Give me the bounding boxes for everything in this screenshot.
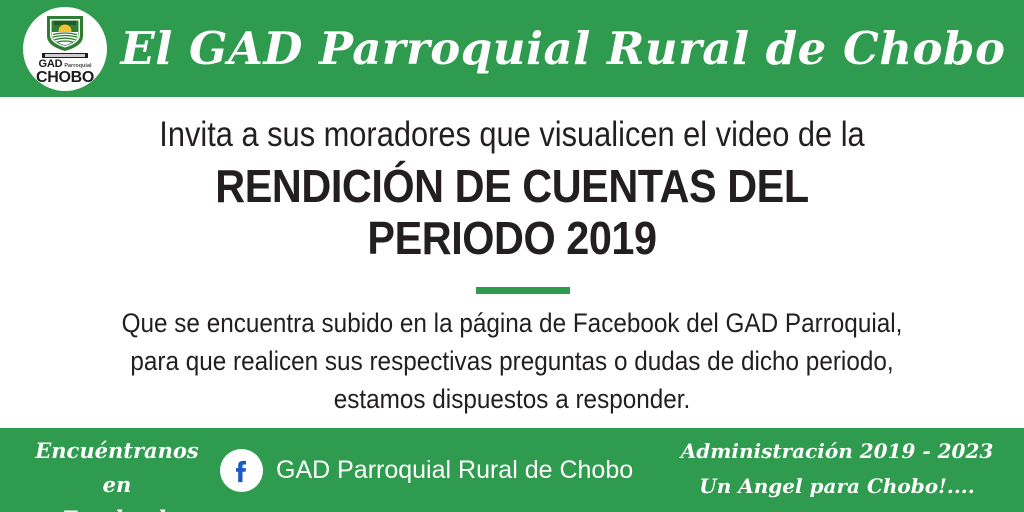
administration-slogan: Un Angel para Chobo!.... [672,469,1002,504]
find-us-line: Facebook [22,502,212,512]
main-content: Invita a sus moradores que visualicen el… [0,97,1024,428]
footer-band: Encuéntranos en Facebook GAD Parroquial … [0,428,1024,512]
body-line: para que realicen sus respectivas pregun… [51,342,973,380]
body-copy: Que se encuentra subido en la página de … [51,304,973,418]
headline-line: PERIODO 2019 [51,212,973,264]
body-line: estamos dispuestos a responder. [51,380,973,418]
organization-logo: GAD Parroquial CHOBO [23,7,107,91]
facebook-link[interactable]: GAD Parroquial Rural de Chobo [220,428,633,512]
find-us-line: Encuéntranos en [22,434,212,502]
intro-line: Invita a sus moradores que visualicen el… [61,115,962,155]
facebook-page-name[interactable]: GAD Parroquial Rural de Chobo [276,456,633,485]
logo-chobo-label: CHOBO [36,70,94,86]
facebook-f-icon[interactable] [220,449,263,492]
body-line: Que se encuentra subido en la página de … [51,304,973,342]
section-divider [476,287,570,294]
headline-line: RENDICIÓN DE CUENTAS DEL [51,160,973,212]
page-title: El GAD Parroquial Rural de Chobo [118,0,1008,97]
headline: RENDICIÓN DE CUENTAS DEL PERIODO 2019 [51,160,973,264]
poster-canvas: GAD Parroquial CHOBO El GAD Parroquial R… [0,0,1024,512]
crest-icon [45,14,85,52]
logo-banner-rule [42,53,88,58]
administration-tagline: Administración 2019 - 2023 Un Angel para… [672,434,1002,504]
find-us-callout: Encuéntranos en Facebook [22,434,212,512]
administration-period: Administración 2019 - 2023 [672,434,1002,469]
header-band: GAD Parroquial CHOBO El GAD Parroquial R… [0,0,1024,97]
